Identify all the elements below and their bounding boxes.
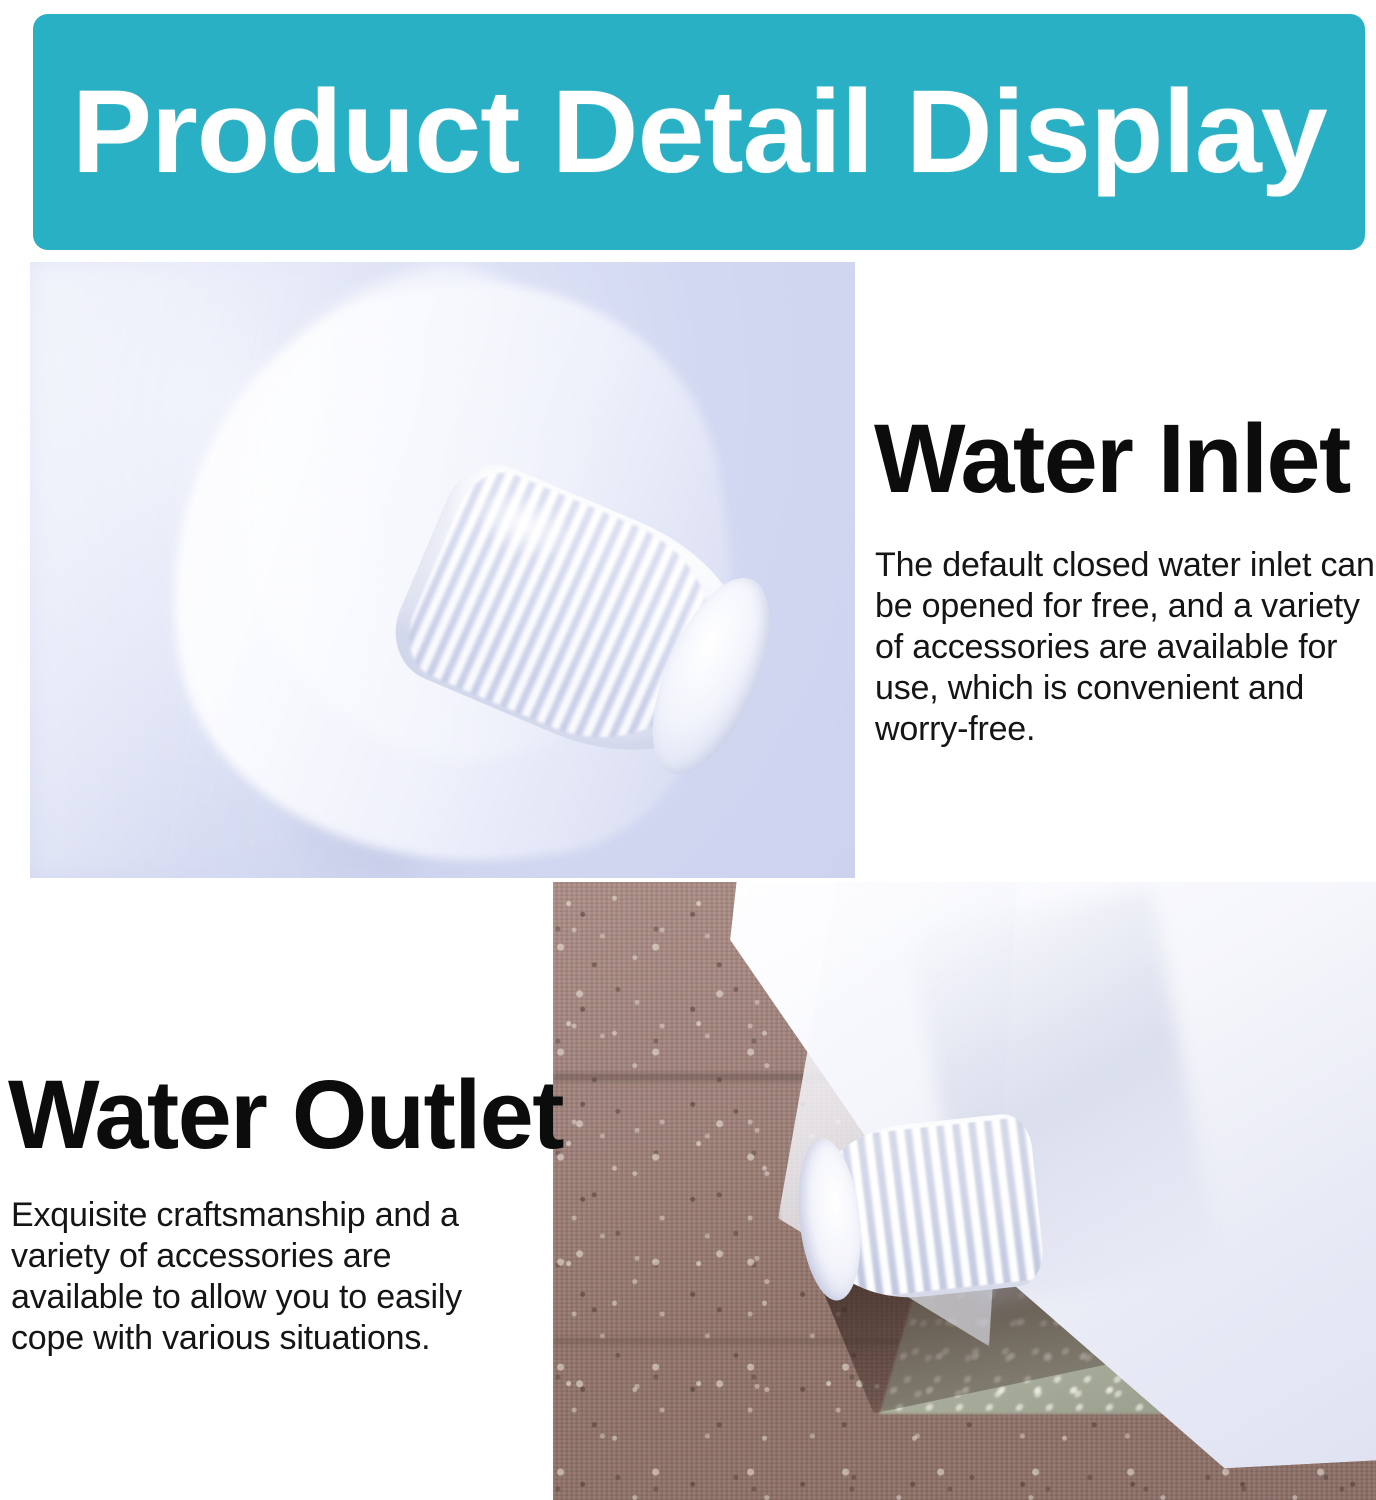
outlet-threaded-spout: [800, 1111, 1047, 1307]
water-outlet-description: Exquisite craftsmanship and a variety of…: [11, 1195, 481, 1359]
water-outlet-photo: [553, 882, 1376, 1500]
water-outlet-heading: Water Outlet: [8, 1066, 563, 1163]
water-inlet-heading: Water Inlet: [874, 410, 1350, 507]
page-title: Product Detail Display: [71, 73, 1326, 191]
water-inlet-description: The default closed water inlet can be op…: [875, 545, 1375, 750]
page-header-banner: Product Detail Display: [33, 14, 1365, 250]
outlet-spout-threads: [837, 1117, 1047, 1299]
water-inlet-photo: [30, 262, 855, 878]
